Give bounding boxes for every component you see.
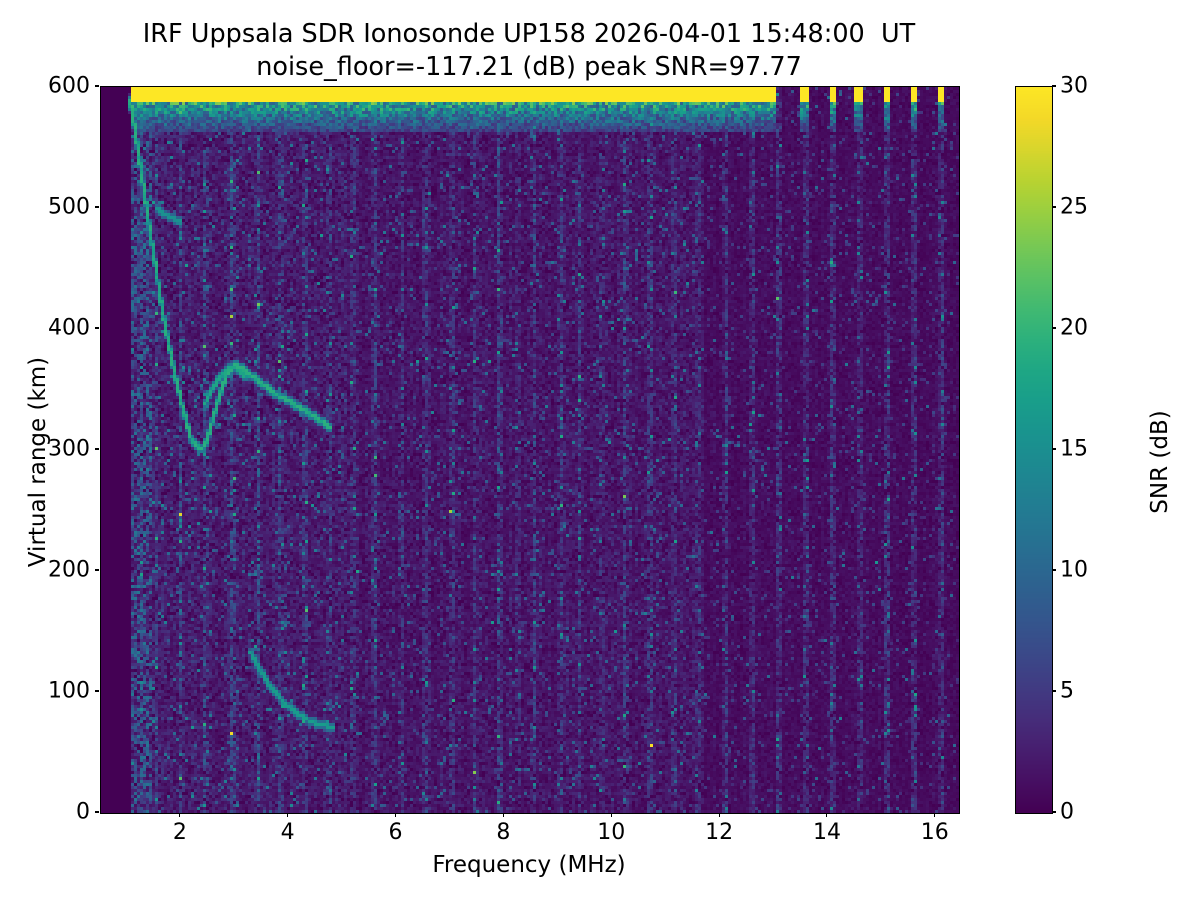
x-tick-label: 8 <box>496 820 510 845</box>
y-axis-label: Virtual range (km) <box>25 342 51 582</box>
x-tick-mark <box>503 813 504 817</box>
y-tick-label: 600 <box>2 74 90 99</box>
ionogram-figure: IRF Uppsala SDR Ionosonde UP158 2026-04-… <box>0 0 1200 900</box>
y-tick-mark <box>95 327 99 328</box>
colorbar-tick-label: 15 <box>1060 437 1088 462</box>
colorbar-tick-label: 30 <box>1060 74 1088 99</box>
x-tick-mark <box>395 813 396 817</box>
y-tick-mark <box>95 448 99 449</box>
x-tick-mark <box>934 813 935 817</box>
colorbar-tick-mark <box>1052 569 1056 570</box>
x-tick-label: 12 <box>705 820 733 845</box>
colorbar-tick-mark <box>1052 327 1056 328</box>
colorbar-tick-label: 5 <box>1060 679 1074 704</box>
y-tick-mark <box>95 811 99 812</box>
title-line-1: IRF Uppsala SDR Ionosonde UP158 2026-04-… <box>0 18 1058 51</box>
colorbar-tick-mark <box>1052 690 1056 691</box>
x-tick-label: 2 <box>173 820 187 845</box>
colorbar-tick-label: 10 <box>1060 558 1088 583</box>
x-tick-label: 16 <box>921 820 949 845</box>
x-tick-label: 14 <box>813 820 841 845</box>
colorbar-tick-label: 0 <box>1060 800 1074 825</box>
x-tick-mark <box>179 813 180 817</box>
figure-title: IRF Uppsala SDR Ionosonde UP158 2026-04-… <box>0 18 1058 83</box>
ionogram-plot-area <box>100 86 960 814</box>
colorbar <box>1015 86 1053 814</box>
x-tick-label: 4 <box>281 820 295 845</box>
y-tick-mark <box>95 85 99 86</box>
x-axis-label: Frequency (MHz) <box>100 852 958 878</box>
colorbar-tick-mark <box>1052 85 1056 86</box>
y-tick-label: 0 <box>2 800 90 825</box>
y-tick-mark <box>95 569 99 570</box>
y-tick-mark <box>95 206 99 207</box>
y-tick-label: 400 <box>2 316 90 341</box>
colorbar-gradient <box>1016 87 1052 813</box>
ionogram-heatmap <box>101 87 959 813</box>
x-tick-mark <box>611 813 612 817</box>
title-line-2: noise_floor=-117.21 (dB) peak SNR=97.77 <box>0 51 1058 84</box>
x-tick-mark <box>719 813 720 817</box>
colorbar-tick-mark <box>1052 206 1056 207</box>
colorbar-tick-label: 25 <box>1060 195 1088 220</box>
x-tick-label: 10 <box>597 820 625 845</box>
colorbar-tick-mark <box>1052 811 1056 812</box>
x-tick-label: 6 <box>389 820 403 845</box>
x-tick-mark <box>826 813 827 817</box>
y-tick-label: 100 <box>2 679 90 704</box>
x-tick-mark <box>287 813 288 817</box>
y-tick-label: 500 <box>2 195 90 220</box>
y-tick-mark <box>95 690 99 691</box>
colorbar-tick-label: 20 <box>1060 316 1088 341</box>
colorbar-tick-mark <box>1052 448 1056 449</box>
colorbar-label: SNR (dB) <box>1147 342 1173 582</box>
